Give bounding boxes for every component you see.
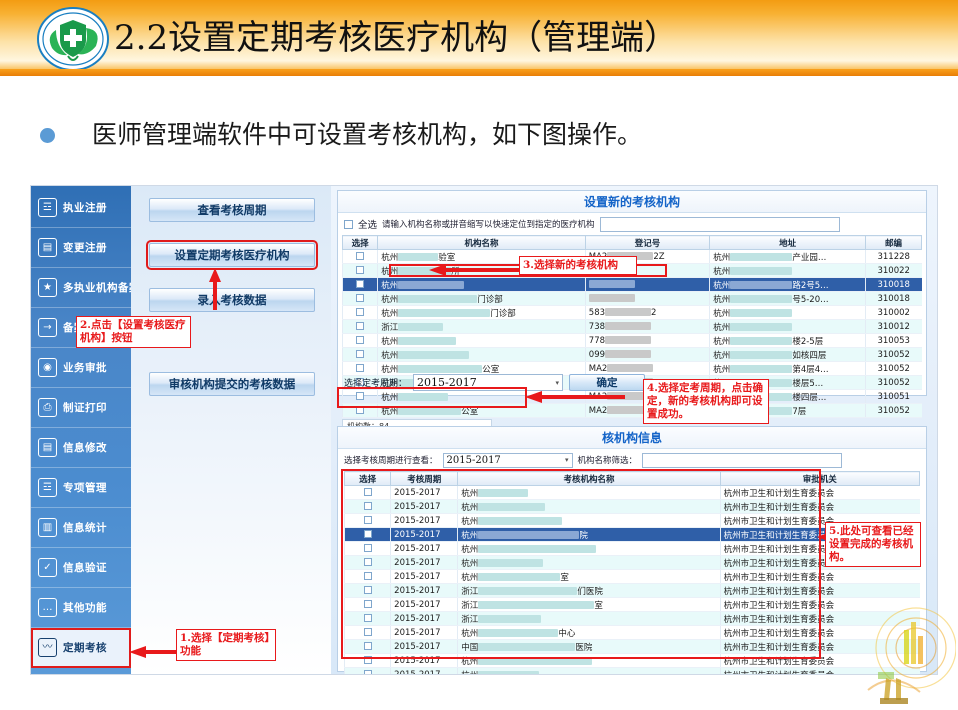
row-checkbox[interactable] <box>364 642 372 650</box>
sidebar-item-label: 其他功能 <box>63 600 107 615</box>
period-cell: 2015-2017 <box>391 626 458 640</box>
ellipsis-icon: … <box>38 598 57 617</box>
table-row[interactable]: 杭州778杭州楼2-5层310053 <box>343 334 922 348</box>
table-row[interactable]: 2015-2017杭州杭州市卫生和计划生育委员会 <box>345 668 920 676</box>
period-cell: 2015-2017 <box>391 514 458 528</box>
confirm-button[interactable]: 确定 <box>569 374 645 391</box>
sidebar-item-0[interactable]: ☲执业注册 <box>31 188 131 228</box>
row-checkbox-cell[interactable] <box>343 390 378 404</box>
reg-no-cell: 738 <box>585 320 710 334</box>
row-checkbox-cell[interactable] <box>343 334 378 348</box>
org-name-cell: 杭州门诊部 <box>378 292 586 306</box>
zip-cell: 311228 <box>865 250 921 264</box>
sidebar-item-label: 信息统计 <box>63 520 107 535</box>
sidebar-item-label: 信息修改 <box>63 440 107 455</box>
annotation-3: 3.选择新的考核机构 <box>519 256 637 275</box>
shield-check-icon: ✓ <box>38 558 57 577</box>
table-row[interactable]: 2015-2017杭州杭州市卫生和计划生育委员会 <box>345 654 920 668</box>
row-checkbox[interactable] <box>356 350 364 358</box>
table-row[interactable]: 杭州099杭州如核四层310052 <box>343 348 922 362</box>
annotation-5: 5.此处可查看已经设置完成的考核机构。 <box>825 522 921 567</box>
table-row[interactable]: 杭州公室MA2杭州7层310052 <box>343 404 922 418</box>
bar-chart-icon: ▥ <box>38 518 57 537</box>
document-search-icon: ▤ <box>38 238 57 257</box>
search-hint-label: 请输入机构名称或拼音缩写以快速定位到指定的医疗机构 <box>382 218 595 230</box>
table-row[interactable]: 杭州杭州路2号5…310018 <box>343 278 922 292</box>
zip-cell: 310018 <box>865 292 921 306</box>
sidebar-item-2[interactable]: ★多执业机构备案 <box>31 268 131 308</box>
approver-cell: 杭州市卫生和计划生育委员会 <box>720 486 919 500</box>
zip-cell: 310002 <box>865 306 921 320</box>
name-filter-input[interactable] <box>642 453 842 468</box>
table-row[interactable]: 杭州门诊部杭州号5-20…310018 <box>343 292 922 306</box>
select-all-checkbox[interactable] <box>344 220 353 229</box>
address-cell: 杭州 <box>710 264 866 278</box>
column-header: 地址 <box>710 236 866 250</box>
row-checkbox-cell[interactable] <box>345 612 391 626</box>
trend-line-icon: 〰 <box>38 638 57 657</box>
bullet-row: 医师管理端软件中可设置考核机构，如下图操作。 <box>40 112 920 160</box>
annotation-2: 2.点击【设置考核医疗机构】按钮 <box>76 316 191 348</box>
column-header: 审批机关 <box>720 472 919 486</box>
period-cell: 2015-2017 <box>391 528 458 542</box>
reg-no-cell: 099 <box>585 348 710 362</box>
table-row[interactable]: 杭州MA22杭州楼四层…310051 <box>343 390 922 404</box>
org-name-cell: 浙江 <box>378 320 586 334</box>
org-name-cell: 杭州 <box>378 278 586 292</box>
table-row[interactable]: 2015-2017中国医院杭州市卫生和计划生育委员会 <box>345 640 920 654</box>
row-checkbox[interactable] <box>364 656 372 664</box>
row-checkbox[interactable] <box>364 516 372 524</box>
view-cycle-button[interactable]: 查看考核周期 <box>149 198 315 222</box>
reg-no-cell <box>585 278 710 292</box>
reg-no-cell <box>585 292 710 306</box>
row-checkbox[interactable] <box>364 502 372 510</box>
row-checkbox[interactable] <box>364 670 372 675</box>
sidebar-item-label: 业务审批 <box>63 360 107 375</box>
period-cell: 2015-2017 <box>391 640 458 654</box>
zip-cell: 310022 <box>865 264 921 278</box>
table-row[interactable]: 2015-2017杭州室杭州市卫生和计划生育委员会 <box>345 570 920 584</box>
annotation-4: 4.选择定考周期，点击确定，新的考核机构即可设置成功。 <box>643 379 769 424</box>
column-header: 选择 <box>345 472 391 486</box>
org-name-cell: 中国医院 <box>458 640 720 654</box>
org-name-cell: 杭州 <box>458 654 720 668</box>
row-checkbox-cell[interactable] <box>345 584 391 598</box>
row-checkbox-cell[interactable] <box>343 292 378 306</box>
column-header: 考核周期 <box>391 472 458 486</box>
row-checkbox-cell[interactable] <box>345 640 391 654</box>
row-checkbox[interactable] <box>356 308 364 316</box>
row-checkbox-cell[interactable] <box>343 278 378 292</box>
sidebar-item-label: 信息验证 <box>63 560 107 575</box>
bottom-panel-filter-row: 选择考核周期进行查看： 2015-2017 ▾ 机构名称筛选： <box>338 449 926 471</box>
table-row[interactable]: 杭州门诊部5832杭州310002 <box>343 306 922 320</box>
address-cell: 杭州第4层4… <box>710 362 866 376</box>
sidebar-item-10[interactable]: …其他功能 <box>31 588 131 628</box>
period-label: 选择定考周期： <box>344 376 407 389</box>
document-search-icon: ▤ <box>38 438 57 457</box>
slide-header: 2.2设置定期考核医疗机构（管理端） <box>0 0 958 76</box>
page-title: 2.2设置定期考核医疗机构（管理端） <box>114 8 678 68</box>
address-cell: 杭州 <box>710 320 866 334</box>
row-checkbox-cell[interactable] <box>343 250 378 264</box>
period-cell: 2015-2017 <box>391 668 458 676</box>
annotation-1: 1.选择【定期考核】功能 <box>176 629 276 661</box>
org-name-cell: 杭州公室 <box>378 404 586 418</box>
table-row[interactable]: 浙江738杭州310012 <box>343 320 922 334</box>
row-checkbox-cell[interactable] <box>345 528 391 542</box>
bullet-text: 医师管理端软件中可设置考核机构，如下图操作。 <box>92 112 642 158</box>
row-checkbox-cell[interactable] <box>345 654 391 668</box>
enter-exam-data-button[interactable]: 录入考核数据 <box>149 288 315 312</box>
sidebar-item-1[interactable]: ▤变更注册 <box>31 228 131 268</box>
table-row[interactable]: 2015-2017杭州中心杭州市卫生和计划生育委员会 <box>345 626 920 640</box>
app-screenshot: ☲执业注册▤变更注册★多执业机构备案→备案、注销◉业务审批⎙制证打印▤信息修改☲… <box>30 185 938 675</box>
address-cell: 杭州号5-20… <box>710 292 866 306</box>
table-header-row: 选择考核周期考核机构名称审批机关 <box>345 472 920 486</box>
person-list-icon: ☲ <box>38 478 57 497</box>
top-panel-title: 设置新的考核机构 <box>338 191 926 213</box>
org-name-cell: 杭州门诊部 <box>378 306 586 320</box>
medical-shield-logo <box>34 6 112 72</box>
column-header: 考核机构名称 <box>458 472 720 486</box>
period-value: 2015-2017 <box>417 376 477 389</box>
row-checkbox[interactable] <box>364 530 372 538</box>
row-checkbox[interactable] <box>364 558 372 566</box>
row-checkbox[interactable] <box>356 280 364 288</box>
reg-no-cell: 5832 <box>585 306 710 320</box>
org-name-cell: 杭州中心 <box>458 626 720 640</box>
column-header: 邮编 <box>865 236 921 250</box>
row-checkbox[interactable] <box>356 392 364 400</box>
name-filter-label: 机构名称筛选： <box>578 454 638 466</box>
sidebar-item-8[interactable]: ▥信息统计 <box>31 508 131 548</box>
row-checkbox[interactable] <box>356 406 364 414</box>
approver-cell: 杭州市卫生和计划生育委员会 <box>720 500 919 514</box>
approver-cell: 杭州市卫生和计划生育委员会 <box>720 584 919 598</box>
row-checkbox[interactable] <box>356 266 364 274</box>
zip-cell: 310052 <box>865 376 921 390</box>
row-checkbox-cell[interactable] <box>345 570 391 584</box>
row-checkbox[interactable] <box>364 600 372 608</box>
document-gear-icon: ◉ <box>38 358 57 377</box>
period-cell: 2015-2017 <box>391 612 458 626</box>
row-checkbox-cell[interactable] <box>343 306 378 320</box>
row-checkbox-cell[interactable] <box>345 514 391 528</box>
org-name-cell: 杭州 <box>458 514 720 528</box>
sidebar-item-9[interactable]: ✓信息验证 <box>31 548 131 588</box>
org-name-cell: 杭州 <box>458 486 720 500</box>
zip-cell: 310052 <box>865 348 921 362</box>
row-checkbox[interactable] <box>356 294 364 302</box>
row-checkbox[interactable] <box>364 572 372 580</box>
top-panel-filter-row: 全选 请输入机构名称或拼音缩写以快速定位到指定的医疗机构 <box>338 213 926 235</box>
printer-icon: ⎙ <box>38 398 57 417</box>
row-checkbox[interactable] <box>364 628 372 636</box>
arrow-to-selected-row <box>429 264 519 276</box>
org-name-cell: 浙江室 <box>458 598 720 612</box>
row-checkbox-cell[interactable] <box>343 404 378 418</box>
row-checkbox[interactable] <box>364 586 372 594</box>
sidebar-item-label: 专项管理 <box>63 480 107 495</box>
period-cell: 2015-2017 <box>391 654 458 668</box>
zip-cell: 310052 <box>865 404 921 418</box>
top-panel: 设置新的考核机构 全选 请输入机构名称或拼音缩写以快速定位到指定的医疗机构 选择… <box>337 190 927 396</box>
review-exam-data-button[interactable]: 审核机构提交的考核数据 <box>149 372 315 396</box>
column-header: 登记号 <box>585 236 710 250</box>
address-cell: 杭州如核四层 <box>710 348 866 362</box>
org-name-cell: 杭州 <box>458 500 720 514</box>
sidebar-item-label: 制证打印 <box>63 400 107 415</box>
org-name-cell: 杭州 <box>458 556 720 570</box>
period-confirm-row: 选择定考周期： 2015-2017 ▾ 确定 <box>344 374 645 391</box>
arrow-to-set-org-button <box>209 268 221 310</box>
address-cell: 杭州楼2-5层 <box>710 334 866 348</box>
row-checkbox-cell[interactable] <box>345 668 391 676</box>
row-checkbox-cell[interactable] <box>343 264 378 278</box>
bullet-dot-icon <box>40 128 55 143</box>
row-checkbox-cell[interactable] <box>345 598 391 612</box>
sidebar-item-label: 执业注册 <box>63 200 107 215</box>
org-name-cell: 杭州室 <box>458 570 720 584</box>
chevron-down-icon: ▾ <box>556 379 560 387</box>
sidebar-item-4[interactable]: ◉业务审批 <box>31 348 131 388</box>
sidebar-item-7[interactable]: ☲专项管理 <box>31 468 131 508</box>
row-checkbox-cell[interactable] <box>345 486 391 500</box>
sidebar-item-label: 多执业机构备案 <box>63 280 140 295</box>
arrow-to-confirm <box>525 391 625 403</box>
app-sidebar: ☲执业注册▤变更注册★多执业机构备案→备案、注销◉业务审批⎙制证打印▤信息修改☲… <box>31 186 131 675</box>
row-checkbox[interactable] <box>356 322 364 330</box>
period-cell: 2015-2017 <box>391 556 458 570</box>
row-checkbox[interactable] <box>356 336 364 344</box>
row-checkbox[interactable] <box>356 364 364 372</box>
row-checkbox[interactable] <box>356 252 364 260</box>
sidebar-item-11[interactable]: 〰定期考核 <box>31 628 131 668</box>
table-row[interactable]: 2015-2017浙江们医院杭州市卫生和计划生育委员会 <box>345 584 920 598</box>
decorative-watermark <box>838 600 956 710</box>
table-row[interactable]: 2015-2017杭州杭州市卫生和计划生育委员会 <box>345 500 920 514</box>
view-period-select[interactable]: 2015-2017 ▾ <box>443 453 573 468</box>
period-select[interactable]: 2015-2017 ▾ <box>413 374 563 391</box>
org-name-cell: 杭州院 <box>458 528 720 542</box>
view-period-value: 2015-2017 <box>447 455 501 466</box>
table-row[interactable]: 2015-2017杭州杭州市卫生和计划生育委员会 <box>345 486 920 500</box>
org-name-cell: 杭州 <box>378 348 586 362</box>
period-cell: 2015-2017 <box>391 500 458 514</box>
row-checkbox-cell[interactable] <box>345 556 391 570</box>
period-cell: 2015-2017 <box>391 486 458 500</box>
address-cell: 杭州 <box>710 306 866 320</box>
select-all-label: 全选 <box>358 217 377 231</box>
sidebar-item-label: 变更注册 <box>63 240 107 255</box>
org-search-input[interactable] <box>600 217 840 232</box>
row-checkbox-cell[interactable] <box>345 542 391 556</box>
sidebar-item-6[interactable]: ▤信息修改 <box>31 428 131 468</box>
star-document-icon: ★ <box>38 278 57 297</box>
row-checkbox-cell[interactable] <box>345 500 391 514</box>
org-name-cell: 杭州 <box>378 334 586 348</box>
org-name-cell: 浙江们医院 <box>458 584 720 598</box>
org-name-cell: 杭州 <box>458 542 720 556</box>
sidebar-item-label: 定期考核 <box>63 640 107 655</box>
view-period-label: 选择考核周期进行查看： <box>344 454 438 466</box>
zip-cell: 310018 <box>865 278 921 292</box>
app-button-column: 查看考核周期 设置定期考核医疗机构 录入考核数据 审核机构提交的考核数据 <box>131 186 331 675</box>
column-header: 机构名称 <box>378 236 586 250</box>
zip-cell: 310052 <box>865 362 921 376</box>
chevron-down-icon: ▾ <box>565 456 569 464</box>
zip-cell: 310053 <box>865 334 921 348</box>
table-header-row: 选择机构名称登记号地址邮编 <box>343 236 922 250</box>
row-checkbox-cell[interactable] <box>343 320 378 334</box>
person-list-icon: ☲ <box>38 198 57 217</box>
sidebar-item-5[interactable]: ⎙制证打印 <box>31 388 131 428</box>
org-name-cell: 杭州 <box>458 668 720 676</box>
set-org-table: 选择考核周期考核机构名称审批机关 2015-2017杭州杭州市卫生和计划生育委员… <box>344 471 920 675</box>
zip-cell: 310012 <box>865 320 921 334</box>
row-checkbox[interactable] <box>364 488 372 496</box>
reg-no-cell: 778 <box>585 334 710 348</box>
row-checkbox[interactable] <box>364 614 372 622</box>
period-cell: 2015-2017 <box>391 584 458 598</box>
table-row[interactable]: 2015-2017浙江杭州市卫生和计划生育委员会 <box>345 612 920 626</box>
row-checkbox-cell[interactable] <box>343 348 378 362</box>
row-checkbox-cell[interactable] <box>345 626 391 640</box>
bottom-panel-title: 核机构信息 <box>338 427 926 449</box>
table-row[interactable]: 2015-2017浙江室杭州市卫生和计划生育委员会 <box>345 598 920 612</box>
column-header: 选择 <box>343 236 378 250</box>
period-cell: 2015-2017 <box>391 542 458 556</box>
set-exam-org-button[interactable]: 设置定期考核医疗机构 <box>149 243 315 267</box>
exit-arrow-icon: → <box>38 318 57 337</box>
period-cell: 2015-2017 <box>391 598 458 612</box>
org-name-cell: 浙江 <box>458 612 720 626</box>
approver-cell: 杭州市卫生和计划生育委员会 <box>720 570 919 584</box>
row-checkbox[interactable] <box>364 544 372 552</box>
address-cell: 杭州产业园… <box>710 250 866 264</box>
address-cell: 杭州路2号5… <box>710 278 866 292</box>
zip-cell: 310051 <box>865 390 921 404</box>
table-body: 2015-2017杭州杭州市卫生和计划生育委员会2015-2017杭州杭州市卫生… <box>345 486 920 676</box>
period-cell: 2015-2017 <box>391 570 458 584</box>
